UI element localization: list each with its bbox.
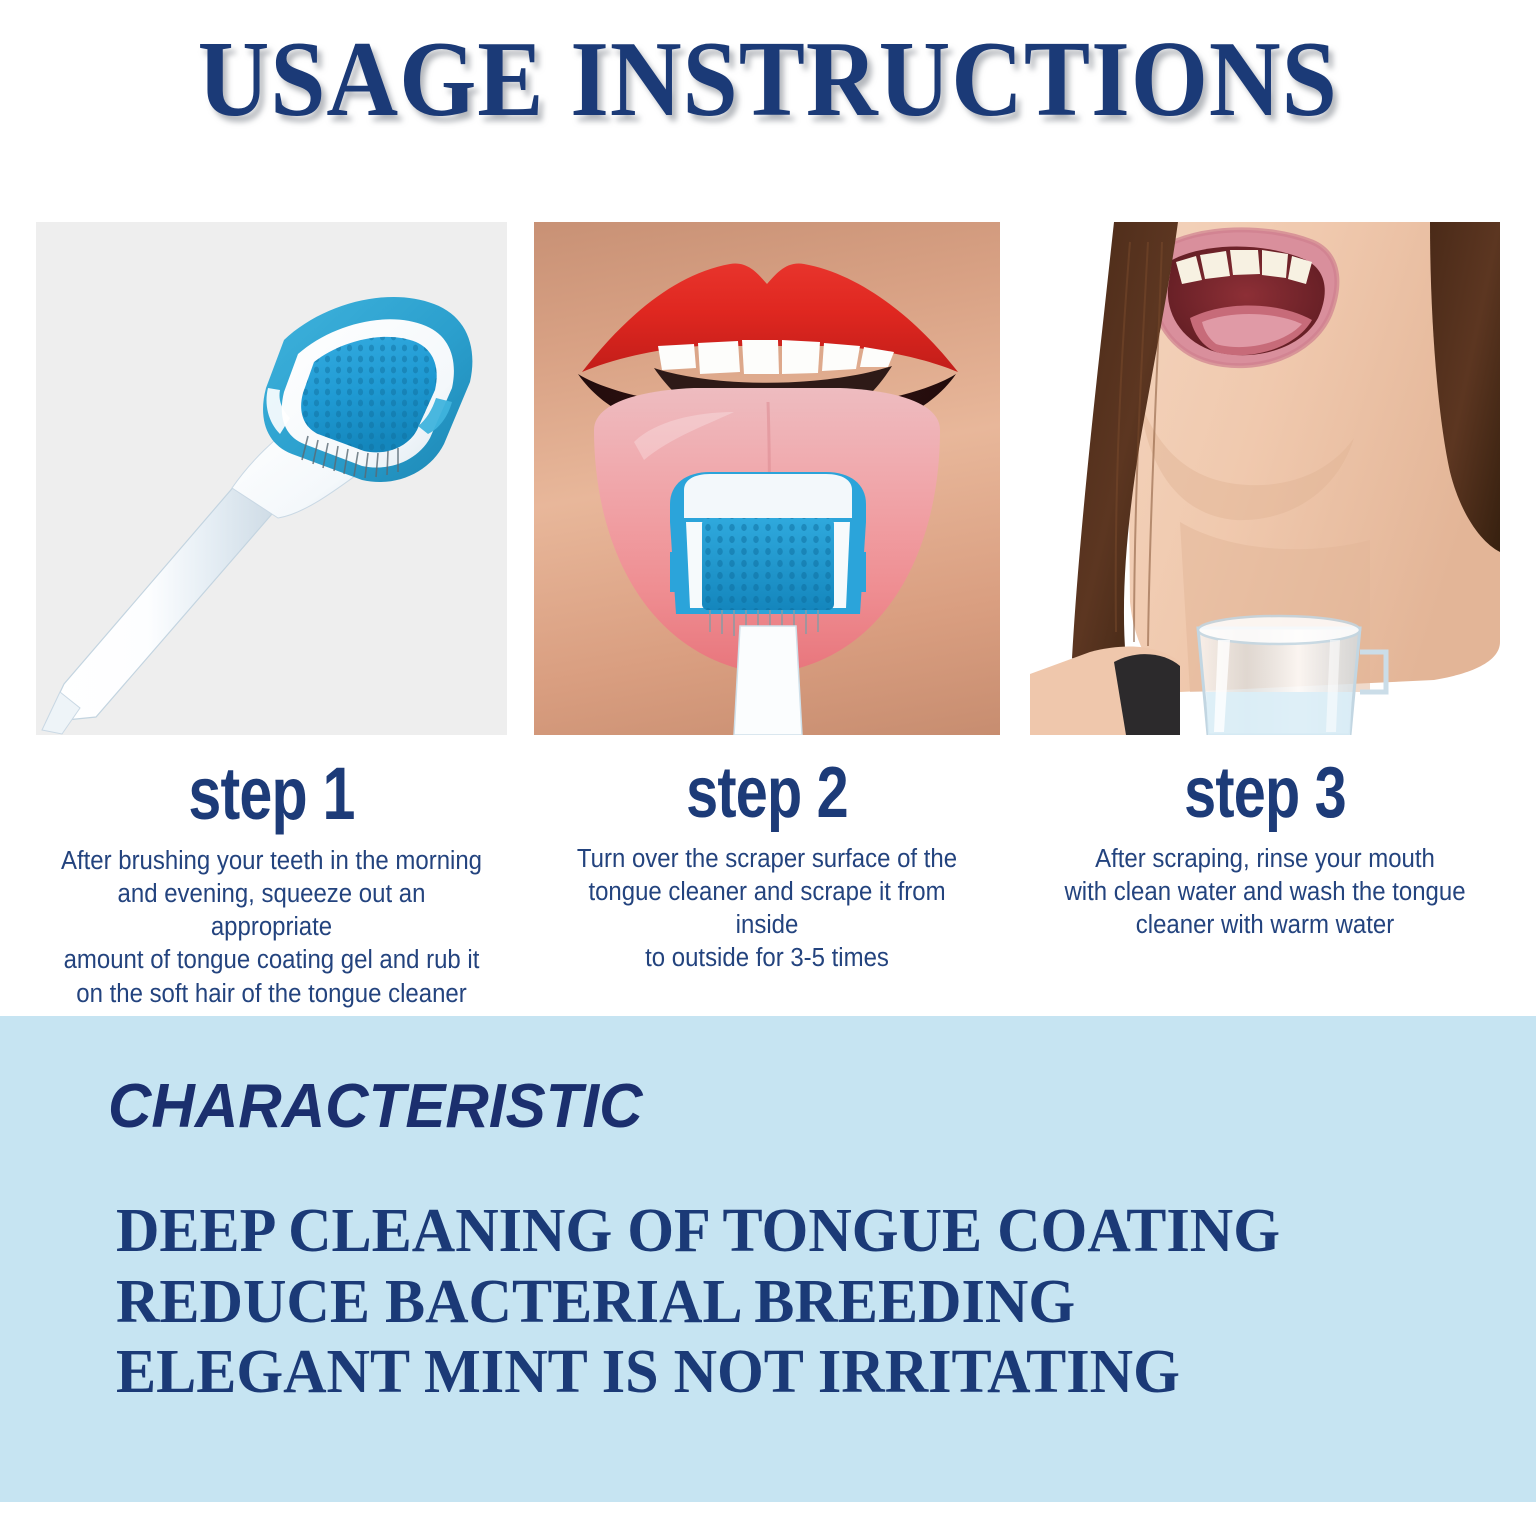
step-label-1: step 1	[83, 757, 460, 831]
rinsing-mouth-photo	[1030, 222, 1500, 735]
characteristic-line: REDUCE BACTERIAL BREEDING	[116, 1267, 1406, 1338]
tongue-cleaner-product-photo	[36, 222, 507, 735]
page-title: USAGE INSTRUCTIONS	[198, 26, 1338, 134]
characteristic-section: CHARACTERISTIC DEEP CLEANING OF TONGUE C…	[0, 1016, 1536, 1502]
characteristic-line: ELEGANT MINT IS NOT IRRITATING	[116, 1337, 1406, 1408]
steps-section: step 1 After brushing your teeth in the …	[0, 222, 1536, 1002]
step-caption-2: Turn over the scraper surface of the ton…	[548, 843, 986, 976]
characteristic-list: DEEP CLEANING OF TONGUE COATING REDUCE B…	[116, 1196, 1446, 1408]
tongue-cleaner-illustration	[36, 222, 507, 735]
mouth-and-cleaner-illustration	[534, 222, 1000, 735]
step-caption-3: After scraping, rinse your mouth with cl…	[1044, 843, 1486, 942]
tongue-scraping-demo-photo	[534, 222, 1000, 735]
step-card-3: step 3 After scraping, rinse your mouth …	[1030, 222, 1500, 942]
characteristic-line: DEEP CLEANING OF TONGUE COATING	[116, 1196, 1406, 1267]
step-caption-1: After brushing your teeth in the morning…	[50, 845, 493, 1044]
woman-with-water-glass-illustration	[1030, 222, 1500, 735]
step-card-2: step 2 Turn over the scraper surface of …	[534, 222, 1000, 976]
title-section: USAGE INSTRUCTIONS	[0, 0, 1536, 160]
step-label-3: step 3	[1077, 757, 1453, 829]
characteristic-heading: CHARACTERISTIC	[108, 1076, 643, 1138]
step-label-2: step 2	[581, 757, 954, 829]
step-card-1: step 1 After brushing your teeth in the …	[36, 222, 507, 1044]
